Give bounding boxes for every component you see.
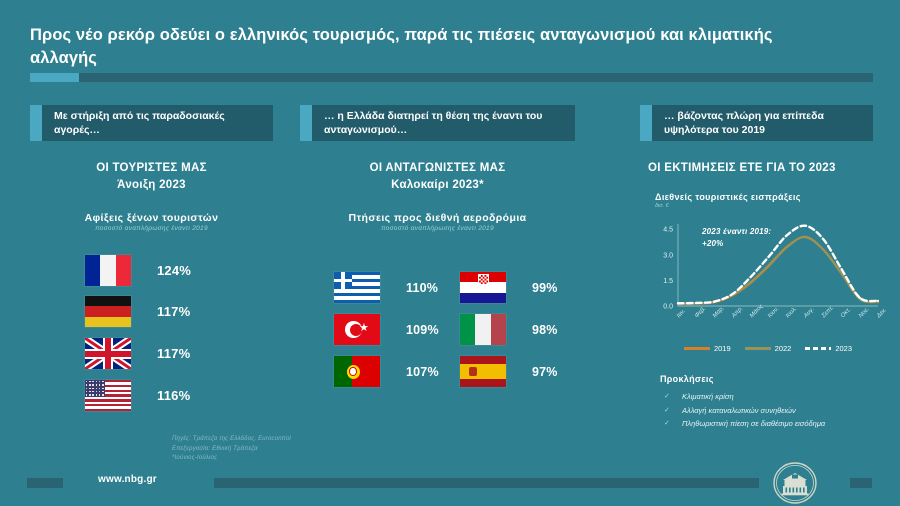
table-row: 99%: [460, 272, 558, 303]
value-turkey: 109%: [406, 323, 439, 337]
germany-flag: [85, 296, 131, 327]
chart-point: [859, 297, 861, 299]
chip-accent-bar: [300, 105, 312, 141]
table-row: 116%: [85, 380, 190, 411]
chart-legend: 201920222023: [652, 344, 884, 353]
chart-point: [768, 264, 770, 266]
footnote-period: *Ιούνιος-Ιούλιος: [172, 454, 291, 464]
column-chip-forecast: … βάζοντας πλώρη για επίπεδα υψηλότερα τ…: [640, 105, 873, 141]
chip-label: … η Ελλάδα διατηρεί τη θέση της έναντι τ…: [324, 109, 565, 138]
value-germany: 117%: [157, 304, 190, 319]
value-portugal: 107%: [406, 365, 439, 379]
table-row: 117%: [85, 338, 190, 369]
column-title-forecast: ΟΙ ΕΚΤΙΜΗΣΕΙΣ ΕΤΕ ΓΙΑ ΤΟ 2023: [648, 160, 888, 177]
chart-point: [822, 249, 824, 251]
infographic-poster: Προς νέο ρεκόρ οδεύει ο ελληνικός τουρισ…: [0, 0, 900, 506]
challenge-text: Αλλαγή καταναλωτικών συνηθειών: [682, 406, 796, 416]
footer-rule-middle: [214, 478, 759, 488]
table-row: ★ 109%: [334, 314, 439, 345]
title-divider: [30, 73, 873, 82]
title-divider-accent: [30, 73, 79, 82]
column-chip-competitors: … η Ελλάδα διατηρεί τη θέση της έναντι τ…: [300, 105, 575, 141]
chip-label: Με στήριξη από τις παραδοσιακές αγορές…: [54, 109, 263, 138]
value-france: 124%: [157, 263, 191, 278]
column-title-competitors: ΟΙ ΑΝΤΑΓΩΝΙΣΤΕΣ ΜΑΣ Καλοκαίρι 2023*: [300, 160, 575, 193]
nbg-building-logo: [770, 462, 820, 504]
chip-body: … η Ελλάδα διατηρεί τη θέση της έναντι τ…: [312, 105, 575, 141]
footnotes: Πηγές: Τράπεζα της Ελλάδος, Eurocontrol …: [172, 435, 291, 464]
footer-rule-left: [27, 478, 63, 488]
svg-text:1.5: 1.5: [663, 278, 673, 285]
challenge-text: Πληθωριστική πίεση σε διαθέσιμο εισόδημα: [682, 419, 825, 429]
portugal-flag: [334, 356, 380, 387]
table-row: 110%: [334, 272, 438, 303]
chart-point: [750, 276, 752, 278]
metric-caption-flights: Πτήσεις προς διεθνή αεροδρόμια ποσοστό α…: [300, 212, 575, 232]
chart-title: Διεθνείς τουριστικές εισπράξεις: [655, 192, 801, 202]
chart-point: [786, 234, 788, 236]
chart-point: [731, 293, 733, 295]
metric-title: Αφίξεις ξένων τουριστών: [30, 212, 273, 224]
footnote-processing: Επεξεργασία: Εθνική Τράπεζα: [172, 445, 291, 455]
chip-body: … βάζοντας πλώρη για επίπεδα υψηλότερα τ…: [652, 105, 873, 141]
svg-text:0.0: 0.0: [663, 304, 673, 311]
legend-swatch: [805, 347, 831, 350]
chart-point: [877, 300, 879, 302]
france-flag: [85, 255, 131, 286]
greece-flag: [334, 272, 380, 303]
chart-annotation: 2023 έναντι 2019: +20%: [702, 226, 771, 250]
chip-accent-bar: [640, 105, 652, 141]
list-item: ✓Κλιματική κρίση: [664, 392, 889, 402]
spain-flag: [460, 356, 506, 387]
metric-subtitle: ποσοστό αναπλήρωσης έναντι 2019: [300, 225, 575, 232]
legend-label: 2022: [775, 344, 792, 353]
legend-label: 2019: [714, 344, 731, 353]
value-uk: 117%: [157, 346, 190, 361]
legend-swatch: [745, 347, 771, 350]
italy-flag: [460, 314, 506, 345]
value-usa: 116%: [157, 388, 190, 403]
footer-rule-right: [850, 478, 872, 488]
list-item: ✓Πληθωριστική πίεση σε διαθέσιμο εισόδημ…: [664, 419, 889, 429]
chart-point: [677, 302, 679, 304]
table-row: 107%: [334, 356, 439, 387]
chip-label: … βάζοντας πλώρη για επίπεδα υψηλότερα τ…: [664, 109, 863, 138]
chart-point: [695, 302, 697, 304]
value-croatia: 99%: [532, 281, 558, 295]
chart-point: [750, 281, 752, 283]
list-item: ✓Αλλαγή καταναλωτικών συνηθειών: [664, 406, 889, 416]
chart-subtitle: δισ. €: [655, 203, 801, 209]
chart-point: [804, 236, 806, 238]
legend-item-2023: 2023: [805, 344, 852, 353]
turkey-flag: ★: [334, 314, 380, 345]
legend-swatch: [684, 347, 710, 350]
column-chip-tourists: Με στήριξη από τις παραδοσιακές αγορές…: [30, 105, 273, 141]
table-row: 97%: [460, 356, 558, 387]
metric-caption-arrivals: Αφίξεις ξένων τουριστών ποσοστό αναπλήρω…: [30, 212, 273, 232]
chart-point: [786, 245, 788, 247]
svg-text:4.5: 4.5: [663, 227, 673, 234]
challenges-list: ✓Κλιματική κρίση✓Αλλαγή καταναλωτικών συ…: [664, 392, 889, 433]
page-title-text: Προς νέο ρεκόρ οδεύει ο ελληνικός τουρισ…: [30, 24, 830, 70]
legend-item-2019: 2019: [684, 344, 731, 353]
legend-item-2022: 2022: [745, 344, 792, 353]
table-row: 117%: [85, 296, 190, 327]
table-row: 124%: [85, 255, 191, 286]
check-icon: ✓: [664, 406, 682, 415]
challenges-title: Προκλήσεις: [660, 374, 714, 384]
chart-point: [768, 255, 770, 257]
value-italy: 98%: [532, 323, 558, 337]
check-icon: ✓: [664, 392, 682, 401]
chart-caption: Διεθνείς τουριστικές εισπράξεις δισ. €: [655, 192, 801, 209]
footer-url: www.nbg.gr: [98, 474, 157, 485]
usa-flag: [85, 380, 131, 411]
value-greece: 110%: [406, 281, 438, 295]
chart-point: [804, 225, 806, 227]
column-title-tourists: ΟΙ ΤΟΥΡΙΣΤΕΣ ΜΑΣ Άνοιξη 2023: [30, 160, 273, 193]
croatia-flag: [460, 272, 506, 303]
page-title: Προς νέο ρεκόρ οδεύει ο ελληνικός τουρισ…: [30, 24, 830, 70]
chart-point: [841, 268, 843, 270]
legend-label: 2023: [835, 344, 852, 353]
uk-flag: [85, 338, 131, 369]
chart-x-axis-labels: Ιαν.Φεβ.Μαρ.Απρ.ΜάιοςΙουν.Ιουλ.Αυγ.Σεπτ.…: [652, 315, 884, 345]
footnote-sources: Πηγές: Τράπεζα της Ελλάδος, Eurocontrol: [172, 435, 291, 445]
metric-subtitle: ποσοστό αναπλήρωσης έναντι 2019: [30, 225, 273, 232]
chart-point: [822, 238, 824, 240]
check-icon: ✓: [664, 419, 682, 428]
table-row: 98%: [460, 314, 558, 345]
chip-body: Με στήριξη από τις παραδοσιακές αγορές…: [42, 105, 273, 141]
chart-point: [713, 300, 715, 302]
metric-title: Πτήσεις προς διεθνή αεροδρόμια: [300, 212, 575, 224]
svg-text:3.0: 3.0: [663, 252, 673, 259]
challenge-text: Κλιματική κρίση: [682, 392, 734, 402]
chip-accent-bar: [30, 105, 42, 141]
chart-point: [841, 273, 843, 275]
value-spain: 97%: [532, 365, 558, 379]
